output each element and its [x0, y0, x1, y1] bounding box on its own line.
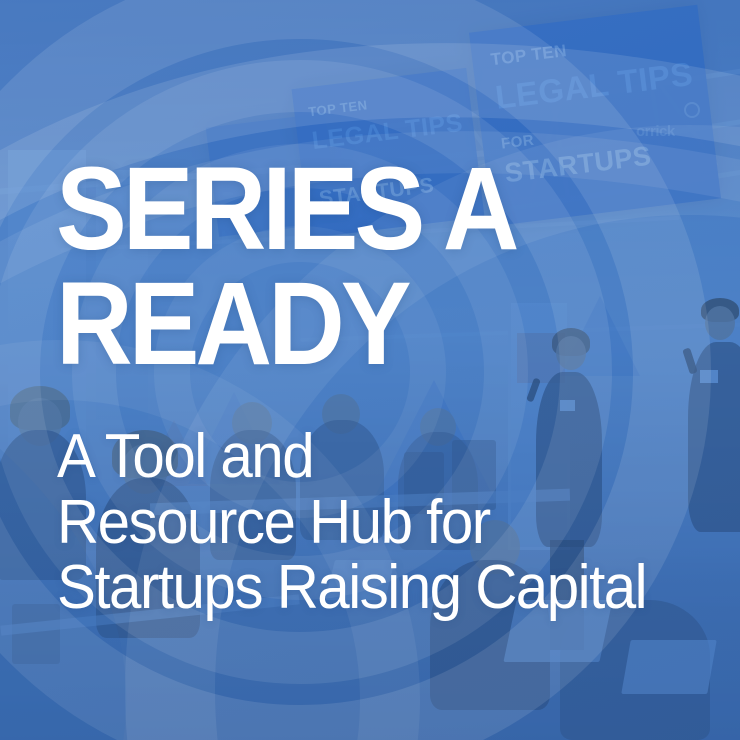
page-subtitle: A Tool and Resource Hub for Startups Rai…: [57, 424, 646, 621]
page-title: SERIES A READY: [56, 152, 515, 382]
series-a-ready-graphic: TOP TEN LEGAL TIPS FOR STARTUPS TOP TEN …: [0, 0, 740, 740]
text-content: SERIES A READY A Tool and Resource Hub f…: [0, 0, 740, 740]
